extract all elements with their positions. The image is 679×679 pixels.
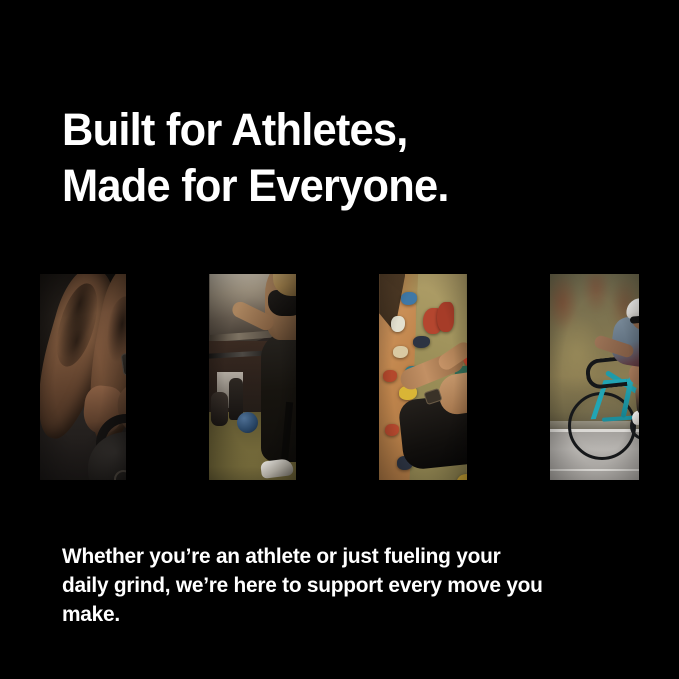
gallery-image-climbing: Climber reaching for a red hold on an in…: [379, 274, 466, 480]
gym-jump-photo-art: [209, 274, 296, 480]
cyclist-photo-art: [550, 274, 639, 480]
body-line-1: Whether you’re an athlete or just fuelin…: [62, 542, 620, 571]
promo-card: Built for Athletes, Made for Everyone.: [0, 0, 679, 679]
image-gallery-strip: Close-up of tattooed athlete gripping a …: [0, 258, 679, 480]
climbing-photo-art: [379, 274, 466, 480]
gallery-image-cyclist: Road cyclist in white helmet riding a te…: [550, 274, 639, 480]
body-copy: Whether you’re an athlete or just fuelin…: [62, 542, 620, 629]
kettlebell-photo-art: [40, 274, 126, 480]
body-line-2: daily grind, we’re here to support every…: [62, 571, 620, 600]
gallery-image-gym-jump: Woman mid-jump in a gym studio with a bl…: [209, 274, 296, 480]
body-line-3: make.: [62, 600, 620, 629]
page-title: Built for Athletes, Made for Everyone.: [62, 102, 622, 214]
headline-line-2: Made for Everyone.: [62, 158, 622, 214]
gallery-image-kettlebell: Close-up of tattooed athlete gripping a …: [40, 274, 126, 480]
headline-line-1: Built for Athletes,: [62, 102, 622, 158]
